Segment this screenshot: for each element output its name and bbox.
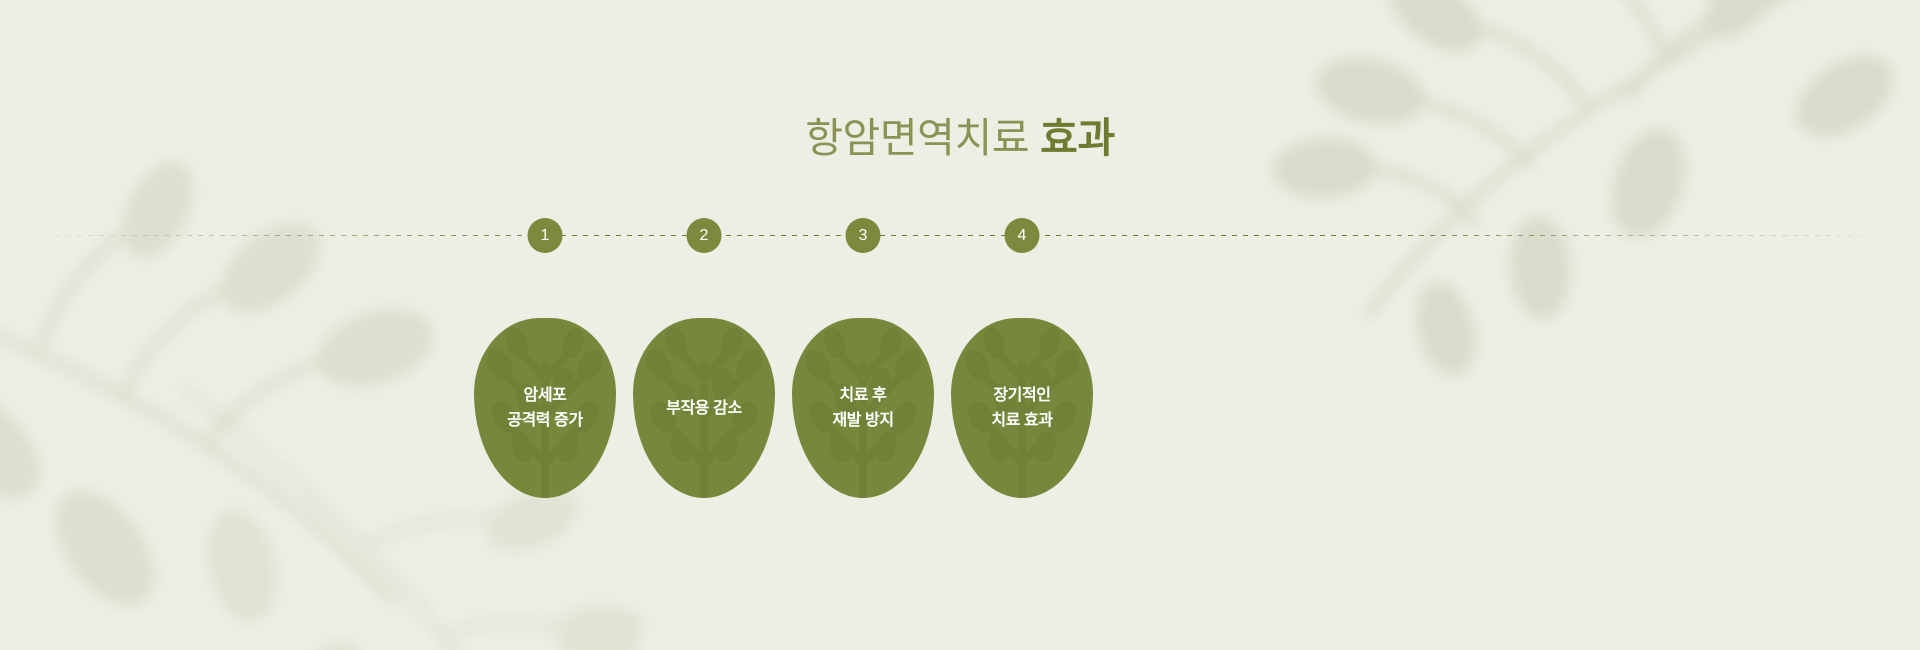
step-label-line: 재발 방지 [832, 408, 893, 433]
step-number-label: 4 [1018, 228, 1027, 244]
step-label-3: 치료 후재발 방지 [832, 383, 893, 433]
step-label-4: 장기적인치료 효과 [991, 383, 1052, 433]
step-blob-4[interactable]: 장기적인치료 효과 [951, 318, 1093, 498]
step-number-badge-4[interactable]: 4 [1005, 218, 1040, 253]
step-blob-1[interactable]: 암세포공격력 증가 [474, 318, 616, 498]
step-number-label: 3 [859, 228, 868, 244]
step-label-line: 부작용 감소 [666, 396, 742, 421]
step-label-2: 부작용 감소 [666, 396, 742, 421]
step-label-line: 장기적인 [991, 383, 1052, 408]
step-label-line: 공격력 증가 [507, 408, 583, 433]
step-label-line: 치료 후 [832, 383, 893, 408]
step-label-1: 암세포공격력 증가 [507, 383, 583, 433]
step-blob-3[interactable]: 치료 후재발 방지 [792, 318, 934, 498]
page-stage: 항암면역치료 효과 1 [0, 0, 1920, 650]
step-number-badge-3[interactable]: 3 [846, 218, 881, 253]
step-label-line: 치료 효과 [991, 408, 1052, 433]
step-number-label: 2 [700, 228, 709, 244]
timeline-steps: 1 [0, 0, 1920, 650]
step-blob-2[interactable]: 부작용 감소 [633, 318, 775, 498]
step-number-badge-2[interactable]: 2 [687, 218, 722, 253]
step-label-line: 암세포 [507, 383, 583, 408]
step-number-label: 1 [541, 228, 550, 244]
step-number-badge-1[interactable]: 1 [528, 218, 563, 253]
